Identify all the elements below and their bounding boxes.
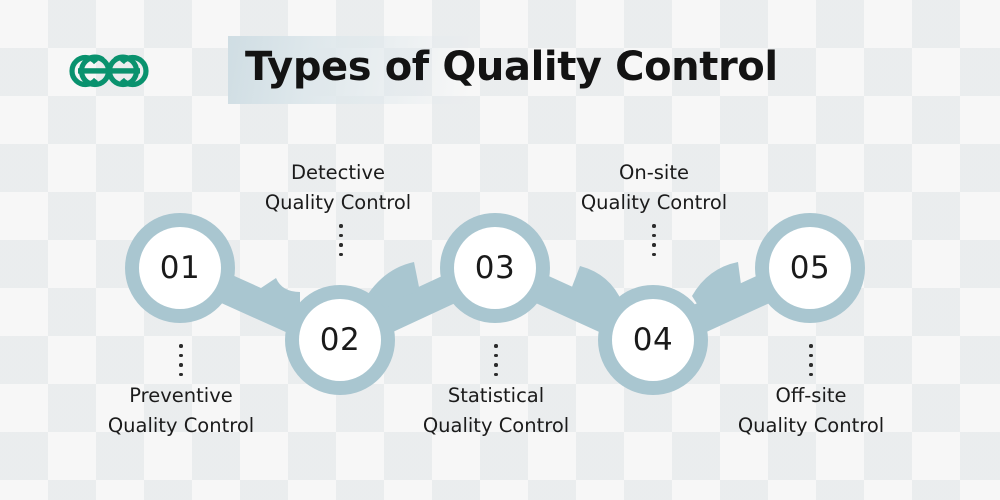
step-label-03: Statistical Quality Control xyxy=(366,381,626,441)
step-label-02-line1: Detective xyxy=(208,158,468,188)
step-label-05-line1: Off-site xyxy=(681,381,941,411)
step-number-02: 02 xyxy=(295,322,385,358)
infographic-canvas: Types of Quality Control xyxy=(0,0,1000,500)
step-label-02: Detective Quality Control xyxy=(208,158,468,218)
step-number-05: 05 xyxy=(765,250,855,286)
dot-leader-03 xyxy=(491,344,501,382)
step-label-04-line1: On-site xyxy=(524,158,784,188)
dot-leader-01 xyxy=(176,344,186,382)
step-number-01: 01 xyxy=(135,250,225,286)
step-label-02-line2: Quality Control xyxy=(208,188,468,218)
step-label-01: Preventive Quality Control xyxy=(51,381,311,441)
step-label-05: Off-site Quality Control xyxy=(681,381,941,441)
step-number-04: 04 xyxy=(608,322,698,358)
step-label-01-line1: Preventive xyxy=(51,381,311,411)
dot-leader-05 xyxy=(806,344,816,382)
dot-leader-04 xyxy=(649,224,659,262)
step-label-03-line1: Statistical xyxy=(366,381,626,411)
step-label-04: On-site Quality Control xyxy=(524,158,784,218)
step-label-03-line2: Quality Control xyxy=(366,411,626,441)
step-label-05-line2: Quality Control xyxy=(681,411,941,441)
dot-leader-02 xyxy=(336,224,346,262)
step-label-04-line2: Quality Control xyxy=(524,188,784,218)
step-label-01-line2: Quality Control xyxy=(51,411,311,441)
step-number-03: 03 xyxy=(450,250,540,286)
